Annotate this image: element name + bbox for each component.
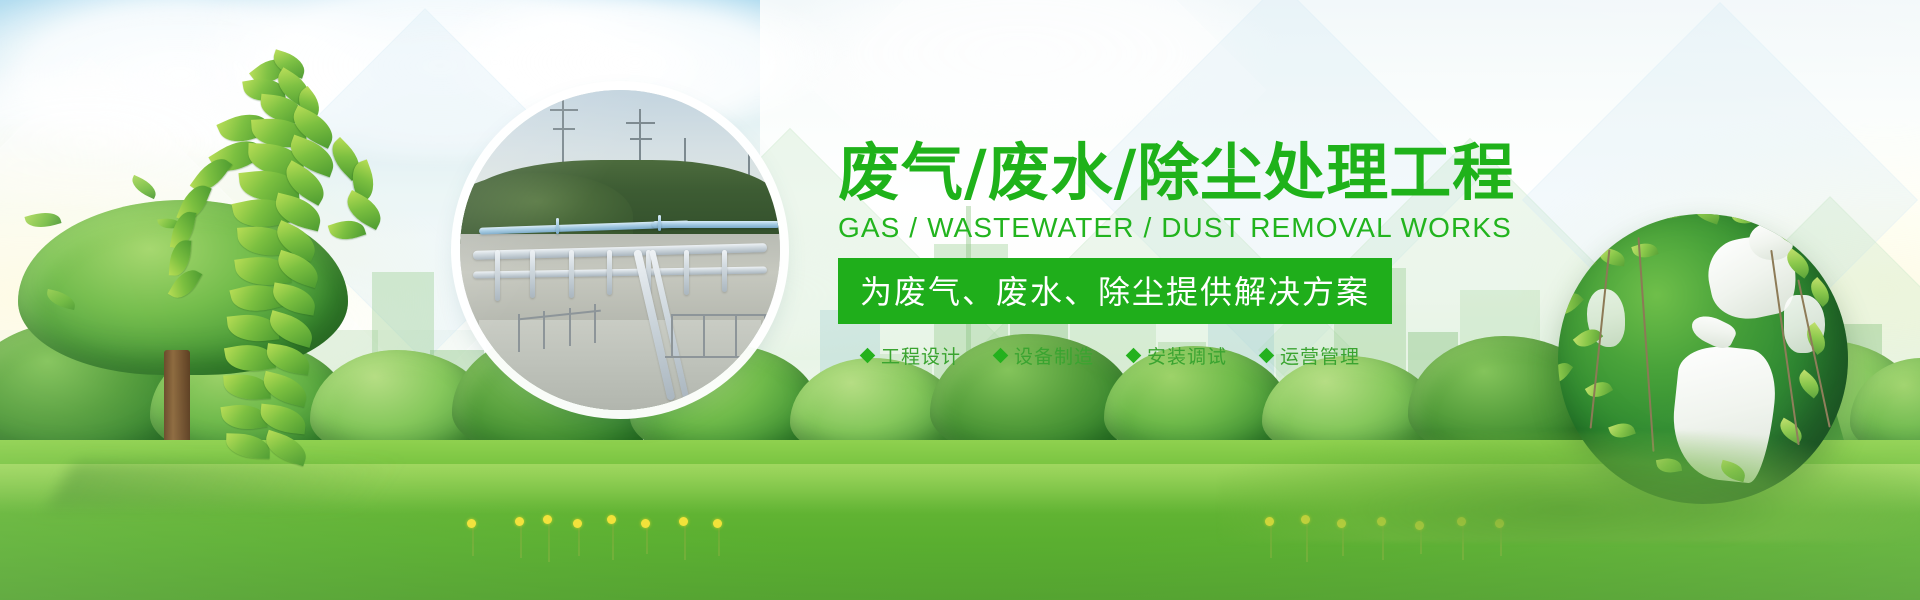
feature-label: 工程设计 <box>881 342 961 369</box>
leaf-man-figure <box>148 52 388 472</box>
ivy-ground-mat <box>1220 432 1920 542</box>
banner-text-block: 废气/废水/除尘处理工程 GAS / WASTEWATER / DUST REM… <box>838 140 1478 369</box>
feature-label: 运营管理 <box>1280 342 1360 369</box>
diamond-bullet-icon <box>860 347 876 363</box>
diamond-bullet-icon <box>1126 347 1142 363</box>
tagline-text: 为废气、废水、除尘提供解决方案 <box>860 273 1370 311</box>
feature-item-operation-management[interactable]: 运营管理 <box>1261 342 1360 369</box>
page-subtitle-english: GAS / WASTEWATER / DUST REMOVAL WORKS <box>838 212 1478 244</box>
circle-photo-wastewater-plant <box>460 90 780 410</box>
feature-list: 工程设计 设备制造 安装调试 运营管理 <box>862 342 1478 369</box>
feature-item-installation-commissioning[interactable]: 安装调试 <box>1128 342 1227 369</box>
diamond-bullet-icon <box>1259 347 1275 363</box>
diamond-bullet-icon <box>993 347 1009 363</box>
tagline-green-bar: 为废气、废水、除尘提供解决方案 <box>838 258 1392 324</box>
feature-item-engineering-design[interactable]: 工程设计 <box>862 342 961 369</box>
page-title: 废气/废水/除尘处理工程 <box>838 140 1478 206</box>
eco-engineering-banner: 废气/废水/除尘处理工程 GAS / WASTEWATER / DUST REM… <box>0 0 1920 600</box>
feature-item-equipment-manufacturing[interactable]: 设备制造 <box>995 342 1094 369</box>
feature-label: 安装调试 <box>1147 342 1227 369</box>
feature-label: 设备制造 <box>1014 342 1094 369</box>
